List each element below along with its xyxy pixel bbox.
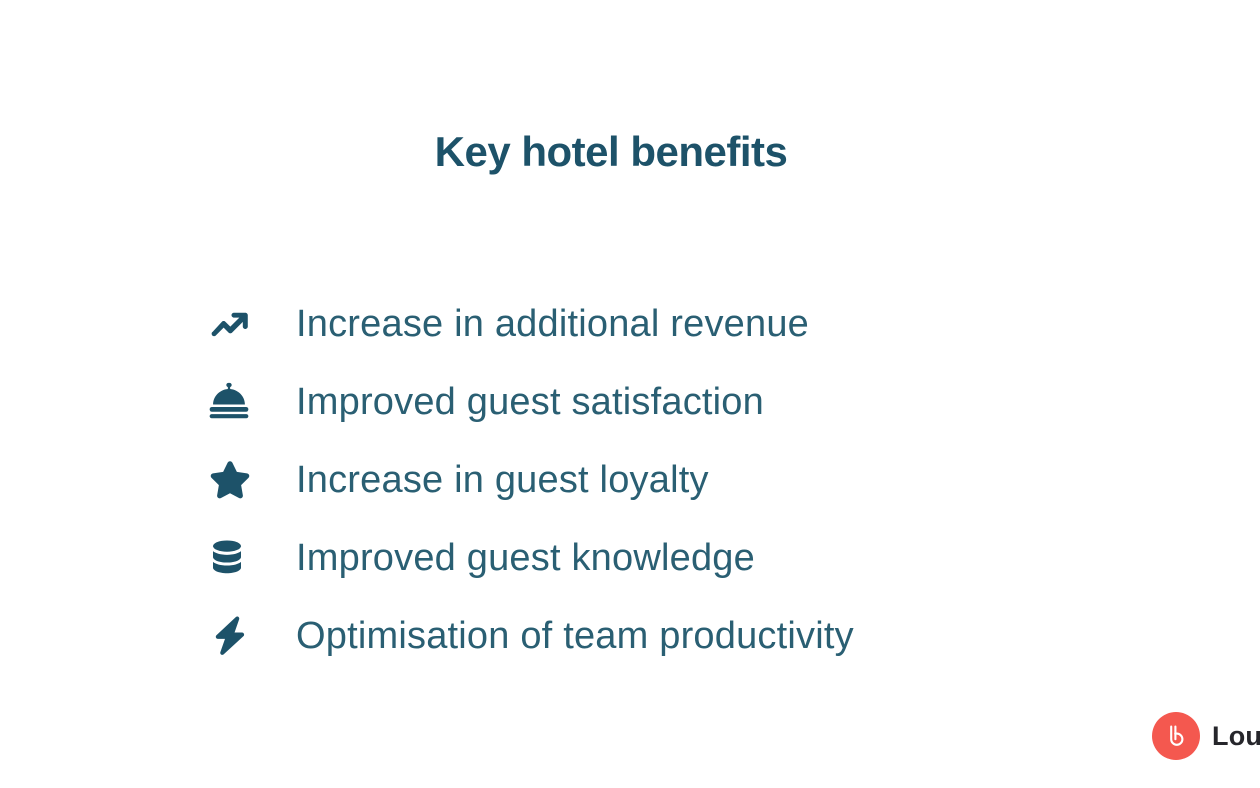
brand-logo: Loun — [1152, 712, 1260, 760]
star-icon — [196, 456, 296, 504]
database-icon — [196, 537, 296, 579]
list-item-label: Optimisation of team productivity — [296, 617, 854, 655]
list-item: Increase in guest loyalty — [196, 441, 1096, 519]
slide-canvas: Key hotel benefits Increase in additiona… — [0, 0, 1260, 788]
loungeup-l-monogram-icon — [1152, 712, 1200, 760]
lightning-bolt-icon — [196, 613, 296, 659]
list-item-label: Increase in guest loyalty — [296, 461, 709, 499]
list-item: Improved guest satisfaction — [196, 363, 1096, 441]
list-item: Increase in additional revenue — [196, 285, 1096, 363]
trending-up-icon — [196, 301, 296, 347]
list-item-label: Increase in additional revenue — [296, 305, 809, 343]
list-item-label: Improved guest knowledge — [296, 539, 755, 577]
concierge-bell-icon — [196, 379, 296, 425]
page-title: Key hotel benefits — [0, 128, 1222, 176]
list-item-label: Improved guest satisfaction — [296, 383, 764, 421]
brand-wordmark: Loun — [1212, 721, 1260, 752]
list-item: Improved guest knowledge — [196, 519, 1096, 597]
list-item: Optimisation of team productivity — [196, 597, 1096, 675]
benefits-list: Increase in additional revenue Improved … — [196, 285, 1096, 675]
